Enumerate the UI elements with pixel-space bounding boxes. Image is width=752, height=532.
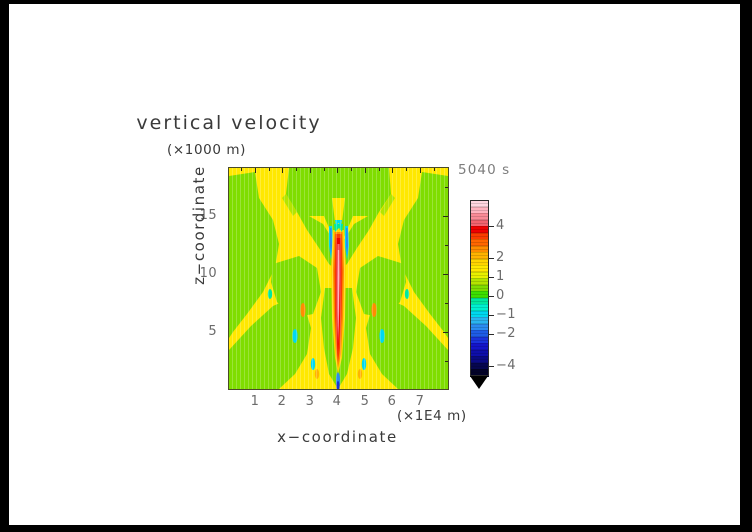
- colorbar-label: 4: [496, 218, 505, 233]
- timestamp-label: 5040 s: [458, 162, 510, 178]
- colorbar-label: −2: [496, 326, 516, 341]
- x-tick-top-minor: [324, 168, 325, 171]
- x-tick-label: 1: [245, 394, 265, 409]
- colorbar-tick: [489, 315, 494, 316]
- x-tick-label: 6: [382, 394, 402, 409]
- colorbar[interactable]: [470, 200, 489, 376]
- plot-canvas: vertical velocity (×1000 m) 5040 s: [9, 4, 740, 525]
- x-tick-top-minor: [406, 168, 407, 171]
- image-frame: vertical velocity (×1000 m) 5040 s: [0, 0, 752, 532]
- x-tick-label: 5: [355, 394, 375, 409]
- x-tick-top-minor: [296, 168, 297, 171]
- vertical-velocity-field: [229, 168, 448, 389]
- x-tick-top: [392, 168, 393, 173]
- y-tick-right-minor: [445, 187, 448, 188]
- x-tick-top-minor: [379, 168, 380, 171]
- colorbar-tick: [489, 258, 494, 259]
- y-tick-right-minor: [445, 245, 448, 246]
- page-title: vertical velocity: [9, 112, 449, 134]
- x-tick-top: [420, 168, 421, 173]
- y-tick-right: [443, 274, 448, 275]
- x-tick-top: [337, 168, 338, 173]
- x-tick-label: 3: [300, 394, 320, 409]
- colorbar-cap-bottom: [470, 376, 488, 389]
- y-tick-right: [443, 216, 448, 217]
- x-axis-unit-label: (×1E4 m): [397, 408, 467, 424]
- contour-plot-area[interactable]: [228, 167, 449, 390]
- colorbar-label: −4: [496, 358, 516, 373]
- colorbar-label: 1: [496, 269, 505, 284]
- x-tick-label: 7: [410, 394, 430, 409]
- x-tick-top: [255, 168, 256, 173]
- colorbar-label: 0: [496, 288, 505, 303]
- colorbar-tick: [489, 366, 494, 367]
- colorbar-label: 2: [496, 250, 505, 265]
- colorbar-tick: [489, 334, 494, 335]
- colorbar-tick: [489, 226, 494, 227]
- colorbar-tick: [489, 296, 494, 297]
- x-tick-label: 2: [272, 394, 292, 409]
- x-axis-title: x−coordinate: [228, 428, 447, 446]
- x-tick-top-minor: [351, 168, 352, 171]
- colorbar-cap-top: [470, 188, 488, 200]
- x-tick-label: 4: [327, 394, 347, 409]
- x-tick-top: [282, 168, 283, 173]
- y-tick-minor: [9, 69, 12, 70]
- colorbar-label: −1: [496, 307, 516, 322]
- z-axis-unit-label: (×1000 m): [167, 142, 246, 158]
- y-tick-right-minor: [445, 361, 448, 362]
- y-tick-right-minor: [445, 303, 448, 304]
- x-tick-top-minor: [434, 168, 435, 171]
- y-tick-right: [443, 332, 448, 333]
- x-tick-top: [310, 168, 311, 173]
- colorbar-tick: [489, 277, 494, 278]
- x-tick-top-minor: [269, 168, 270, 171]
- x-tick-top: [365, 168, 366, 173]
- y-tick-label: 5: [191, 324, 217, 339]
- x-tick-top-minor: [241, 168, 242, 171]
- y-axis-title: z−coordinate: [190, 165, 208, 285]
